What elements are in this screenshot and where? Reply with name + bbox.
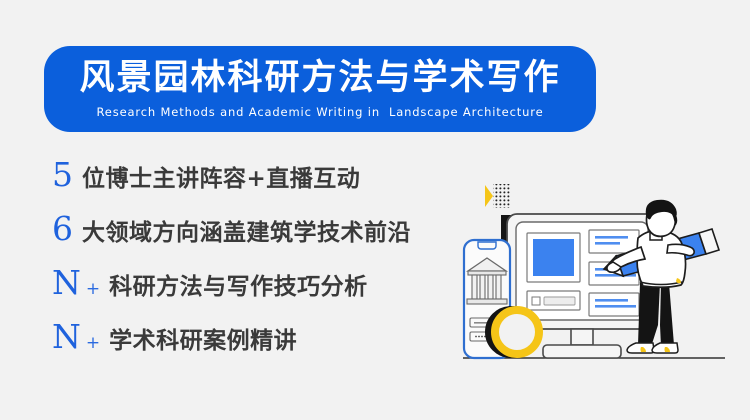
screen-text-card: [589, 293, 639, 316]
yellow-dotted-triangle-decoration: [485, 184, 511, 208]
screen-text-card: [589, 230, 639, 253]
bullet-plus-sign: +: [86, 281, 100, 298]
bullet-marker: 5: [52, 158, 76, 191]
bullet-marker: N: [52, 320, 81, 353]
feature-list: 5 位博士主讲阵容+直播互动 6 大领域方向涵盖建筑学技术前沿 N + 科研方法…: [52, 158, 472, 374]
bullet-plus-sign: +: [86, 335, 100, 352]
page-subtitle: Research Methods and Academic Writing in…: [96, 105, 543, 119]
bullet-label: 位博士主讲阵容+直播互动: [82, 167, 360, 190]
list-item: N + 科研方法与写作技巧分析: [52, 266, 472, 320]
bullet-label: 大领域方向涵盖建筑学技术前沿: [82, 221, 411, 244]
yellow-ring-decoration: [489, 310, 539, 354]
bullet-marker: 6: [52, 212, 76, 245]
screen-image-tile: [527, 233, 580, 282]
page-title: 风景园林科研方法与学术写作: [79, 60, 560, 97]
poster-root: 风景园林科研方法与学术写作 Research Methods and Acade…: [0, 0, 750, 420]
bullet-marker: N: [52, 266, 81, 299]
bullet-label: 科研方法与写作技巧分析: [109, 275, 368, 298]
list-item: 6 大领域方向涵盖建筑学技术前沿: [52, 212, 472, 266]
screen-search-row: [527, 291, 580, 310]
list-item: 5 位博士主讲阵容+直播互动: [52, 158, 472, 212]
list-item: N + 学术科研案例精讲: [52, 320, 472, 374]
title-banner: 风景园林科研方法与学术写作 Research Methods and Acade…: [44, 46, 596, 132]
person-editing-dashboard-illustration: [455, 175, 750, 375]
bullet-label: 学术科研案例精讲: [109, 329, 297, 352]
